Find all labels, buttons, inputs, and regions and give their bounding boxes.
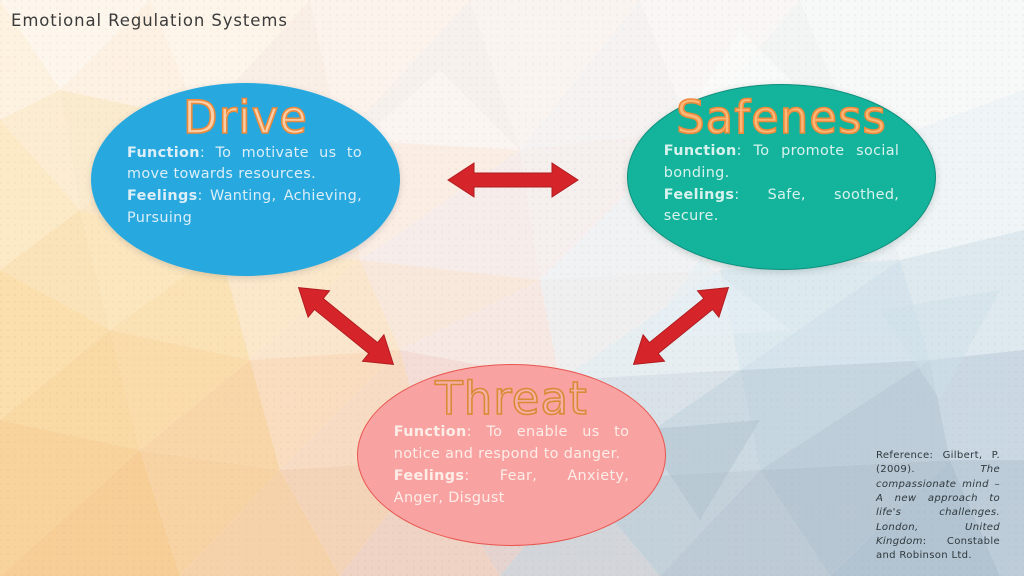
bubble-title-drive: Drive [125,96,366,139]
system-bubble-safeness[interactable]: Safeness Function: To promote social bon… [627,84,936,270]
reference-italic-title: The compassionate mind – A new approach … [876,464,1000,547]
system-bubble-threat[interactable]: Threat Function: To enable us to notice … [357,364,666,546]
page-title: Emotional Regulation Systems [11,11,288,30]
slide-canvas: Emotional Regulation Systems Drive Funct… [0,0,1024,576]
arrow-drive-safeness [448,158,578,202]
function-label-threat: Function [394,424,467,440]
bubble-body-threat: Function: To enable us to notice and res… [392,422,631,510]
reference-citation: Reference: Gilbert, P. (2009). The compa… [876,449,1000,564]
arrow-safeness-threat [620,277,742,375]
arrow-drive-threat [285,277,407,375]
bubble-body-drive: Function: To motivate us to move towards… [125,143,366,231]
feelings-label-threat: Feelings [394,468,465,484]
function-label-drive: Function [127,145,200,161]
feelings-label-drive: Feelings [127,188,198,204]
bubble-body-safeness: Function: To promote social bonding. Fee… [662,141,901,229]
bubble-title-threat: Threat [392,377,631,420]
bubble-title-safeness: Safeness [662,96,901,139]
system-bubble-drive[interactable]: Drive Function: To motivate us to move t… [91,83,400,276]
feelings-label-safeness: Feelings [664,187,735,203]
function-label-safeness: Function [664,143,737,159]
